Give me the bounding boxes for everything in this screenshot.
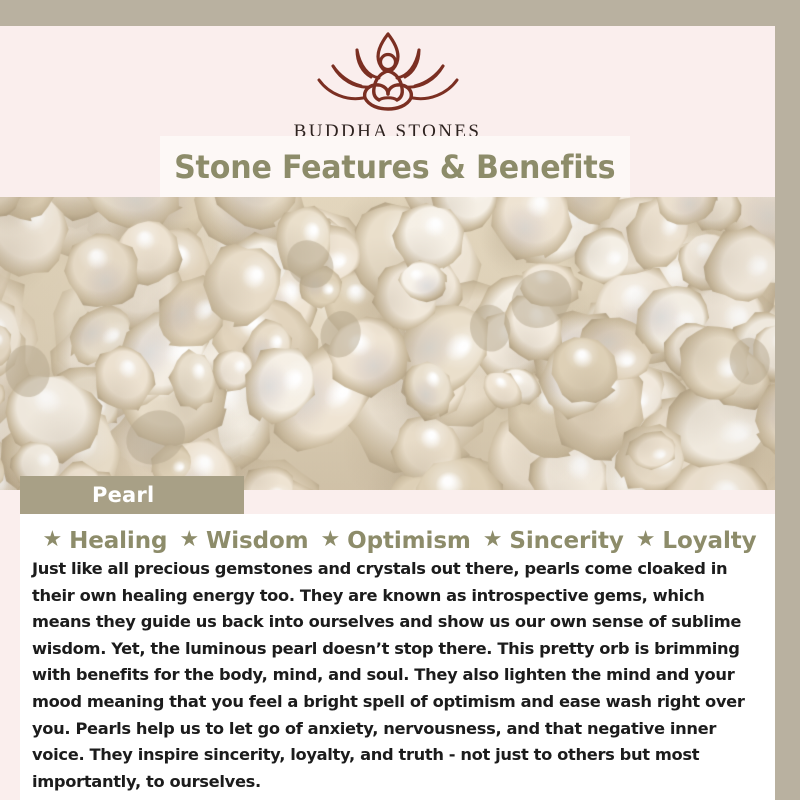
stone-name-label: Pearl <box>92 483 154 507</box>
feature-item: ★Sincerity <box>475 528 628 554</box>
star-icon: ★ <box>179 529 199 551</box>
feature-item: ★Optimism <box>313 528 475 554</box>
poster-canvas: BUDDHA STONES Stone Features & Benefits … <box>0 26 775 800</box>
feature-label: Wisdom <box>206 528 313 554</box>
title-banner: Stone Features & Benefits <box>160 136 630 197</box>
star-icon: ★ <box>636 529 656 551</box>
star-icon: ★ <box>321 529 341 551</box>
poster: BUDDHA STONES Stone Features & Benefits … <box>0 0 800 800</box>
feature-label: Sincerity <box>509 528 627 554</box>
content-panel: ★Healing★Wisdom★Optimism★Sincerity★Loyal… <box>20 514 775 800</box>
feature-label: Loyalty <box>662 528 760 554</box>
stone-name-tab: Pearl <box>20 476 244 514</box>
star-icon: ★ <box>42 529 62 551</box>
pearl-photo <box>0 197 775 490</box>
page-title: Stone Features & Benefits <box>174 148 615 186</box>
feature-item: ★Loyalty <box>628 528 761 554</box>
lotus-meditation-icon <box>313 28 463 114</box>
feature-label: Optimism <box>347 528 475 554</box>
feature-list: ★Healing★Wisdom★Optimism★Sincerity★Loyal… <box>20 528 775 554</box>
brand-logo: BUDDHA STONES <box>0 28 775 143</box>
feature-label: Healing <box>69 528 171 554</box>
feature-item: ★Wisdom <box>171 528 312 554</box>
feature-item: ★Healing <box>34 528 171 554</box>
star-icon: ★ <box>483 529 503 551</box>
stone-description: Just like all precious gemstones and cry… <box>32 556 763 795</box>
pearl-photo-canvas <box>0 197 775 490</box>
